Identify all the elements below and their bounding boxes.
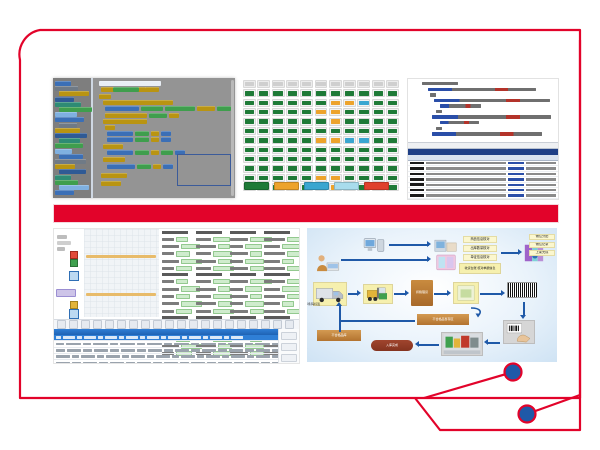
flow-node-quality-check[interactable] (453, 282, 479, 304)
status-cell[interactable] (315, 89, 328, 97)
form-field-value[interactable] (287, 266, 301, 271)
table-cell[interactable] (106, 355, 120, 358)
status-cell[interactable] (286, 108, 299, 116)
form-field-value[interactable] (282, 259, 294, 264)
canvas-block[interactable] (161, 131, 171, 136)
canvas-block[interactable] (161, 137, 171, 142)
canvas-block[interactable] (107, 131, 133, 136)
toolbar-button[interactable] (81, 320, 90, 329)
table-cell[interactable] (191, 362, 205, 364)
table-cell[interactable] (81, 355, 95, 358)
status-cell[interactable] (372, 108, 385, 116)
flow-node-check-list-2[interactable]: 出库数量核对 (463, 245, 497, 252)
status-cell[interactable] (300, 136, 313, 144)
status-cell[interactable] (315, 127, 328, 135)
status-cell[interactable] (329, 118, 342, 126)
form-field-value[interactable] (282, 244, 301, 249)
canvas-block[interactable] (105, 106, 139, 111)
status-cell[interactable] (272, 108, 285, 116)
status-cell[interactable] (243, 99, 256, 107)
status-cell[interactable] (386, 165, 399, 173)
toolbar-button[interactable] (93, 320, 102, 329)
status-cell[interactable] (272, 155, 285, 163)
table-cell[interactable] (231, 336, 243, 339)
form-field-value[interactable] (282, 301, 294, 306)
log-console[interactable] (408, 148, 558, 199)
status-cell[interactable] (272, 136, 285, 144)
table-cell[interactable] (197, 355, 204, 358)
canvas-block[interactable] (149, 113, 167, 118)
canvas-block[interactable] (107, 150, 133, 155)
form-field-value[interactable] (287, 294, 301, 299)
canvas-block[interactable] (151, 137, 159, 142)
table-cell[interactable] (63, 336, 75, 339)
flow-node-inbound-done[interactable]: 入库完成 (371, 340, 413, 351)
form-field-value[interactable] (176, 266, 192, 271)
status-cell[interactable] (243, 174, 256, 182)
canvas-block[interactable] (103, 100, 173, 105)
status-cell[interactable] (357, 146, 370, 154)
toolbar-button[interactable] (261, 320, 270, 329)
table-cell[interactable] (121, 349, 135, 352)
panel-blocks-editor[interactable] (53, 78, 235, 198)
table-cell[interactable] (182, 336, 187, 339)
table-cell[interactable] (175, 349, 189, 352)
blocks-scrollbar[interactable] (231, 80, 234, 196)
status-cell[interactable] (243, 89, 256, 97)
rail-node-amber[interactable] (70, 301, 78, 309)
status-cell[interactable] (329, 80, 342, 88)
form-field-value[interactable] (245, 244, 262, 249)
form-field-value[interactable] (282, 286, 301, 291)
toolbar-button[interactable] (285, 320, 294, 329)
table-cell[interactable] (56, 336, 61, 339)
status-cell[interactable] (315, 165, 328, 173)
status-cell[interactable] (329, 99, 342, 107)
status-cell[interactable] (300, 118, 313, 126)
status-cell[interactable] (272, 99, 285, 107)
canvas-block[interactable] (217, 106, 231, 111)
table-cell[interactable] (147, 336, 159, 339)
sheet-form-area[interactable] (84, 229, 299, 317)
form-field-value[interactable] (176, 251, 190, 256)
table-cell[interactable] (110, 362, 124, 364)
status-cell[interactable] (386, 146, 399, 154)
gantt-bar-2[interactable] (86, 293, 156, 296)
palette-block[interactable] (55, 190, 74, 195)
canvas-block[interactable] (101, 181, 121, 186)
table-cell[interactable] (84, 336, 96, 339)
table-cell[interactable] (207, 362, 216, 364)
table-cell[interactable] (97, 355, 104, 358)
flow-node-shelving-photo[interactable] (441, 332, 483, 356)
table-cell[interactable] (201, 343, 216, 346)
canvas-block[interactable] (105, 125, 115, 130)
status-cell[interactable] (357, 80, 370, 88)
table-cell[interactable] (164, 362, 178, 364)
canvas-block[interactable] (169, 113, 179, 118)
status-cell[interactable] (286, 127, 299, 135)
status-cell[interactable] (257, 80, 270, 88)
form-field-value[interactable] (245, 301, 264, 306)
table-cell[interactable] (174, 343, 189, 346)
status-cell[interactable] (257, 146, 270, 154)
table-cell[interactable] (140, 336, 145, 339)
canvas-block[interactable] (135, 150, 149, 155)
toolbar-button[interactable] (201, 320, 210, 329)
form-field-value[interactable] (213, 237, 230, 242)
status-cell[interactable] (329, 127, 342, 135)
status-cell[interactable] (272, 165, 285, 173)
status-cell[interactable] (329, 165, 342, 173)
status-cell[interactable] (357, 118, 370, 126)
form-row[interactable] (264, 309, 300, 314)
toolbar-button[interactable] (189, 320, 198, 329)
status-cell[interactable] (315, 136, 328, 144)
form-row[interactable] (264, 244, 300, 249)
status-cell[interactable] (272, 89, 285, 97)
side-action-button[interactable] (281, 354, 297, 362)
sheet-side-buttons[interactable] (278, 329, 299, 363)
status-cell[interactable] (386, 118, 399, 126)
form-field-value[interactable] (176, 237, 188, 242)
form-field-value[interactable] (250, 309, 264, 314)
table-cell[interactable] (210, 336, 222, 339)
canvas-block[interactable] (141, 106, 163, 111)
status-cell[interactable] (243, 80, 256, 88)
status-cell[interactable] (300, 80, 313, 88)
canvas-block[interactable] (103, 157, 125, 162)
status-cell[interactable] (386, 136, 399, 144)
status-cell[interactable] (315, 174, 328, 182)
status-cell[interactable] (286, 118, 299, 126)
status-cell[interactable] (343, 108, 356, 116)
toolbar-button[interactable] (117, 320, 126, 329)
status-cell[interactable] (329, 155, 342, 163)
table-cell[interactable] (56, 355, 70, 358)
table-cell[interactable] (83, 343, 91, 346)
form-field-value[interactable] (213, 294, 232, 299)
canvas-block[interactable] (113, 87, 139, 92)
table-cell[interactable] (126, 336, 138, 339)
table-cell[interactable] (72, 355, 79, 358)
flow-node-receiving-desk[interactable] (433, 238, 459, 272)
side-action-button[interactable] (281, 343, 297, 351)
table-cell[interactable] (189, 336, 201, 339)
panel-spreadsheet[interactable] (53, 228, 300, 364)
status-cell[interactable] (315, 80, 328, 88)
status-cell[interactable] (243, 108, 256, 116)
canvas-block[interactable] (107, 164, 135, 169)
table-cell[interactable] (94, 349, 108, 352)
canvas-block[interactable] (151, 131, 159, 136)
toolbar-button[interactable] (57, 320, 66, 329)
canvas-block[interactable] (165, 106, 195, 111)
table-cell[interactable] (67, 349, 81, 352)
rail-node-red[interactable] (70, 251, 78, 259)
table-cell[interactable] (77, 336, 82, 339)
gantt-bar-1[interactable] (86, 255, 156, 258)
status-cell[interactable] (257, 127, 270, 135)
status-cell[interactable] (343, 127, 356, 135)
table-cell[interactable] (83, 349, 92, 352)
form-field-value[interactable] (176, 294, 190, 299)
table-cell[interactable] (56, 343, 64, 346)
status-cell[interactable] (329, 136, 342, 144)
status-cell[interactable] (343, 89, 356, 97)
form-field-value[interactable] (250, 266, 264, 271)
table-cell[interactable] (202, 349, 216, 352)
form-row[interactable] (264, 251, 300, 256)
flow-node-check-list-1[interactable]: 商品信息核对 (463, 236, 497, 243)
status-cell[interactable] (343, 174, 356, 182)
flow-node-order-system[interactable] (361, 236, 387, 254)
canvas-block[interactable] (163, 164, 173, 169)
form-field-value[interactable] (287, 279, 301, 284)
canvas-block[interactable] (103, 144, 123, 149)
status-cell[interactable] (329, 174, 342, 182)
status-cell[interactable] (343, 146, 356, 154)
table-cell[interactable] (206, 355, 220, 358)
table-cell[interactable] (222, 355, 229, 358)
table-cell[interactable] (137, 343, 145, 346)
table-cell[interactable] (93, 343, 108, 346)
form-field-value[interactable] (218, 244, 230, 249)
table-cell[interactable] (137, 362, 151, 364)
status-cell[interactable] (357, 108, 370, 116)
status-cell[interactable] (300, 165, 313, 173)
flow-node-check-list-3[interactable]: 单证信息核对 (463, 254, 497, 261)
status-cell[interactable] (372, 165, 385, 173)
table-cell[interactable] (256, 355, 270, 358)
form-row[interactable] (264, 266, 300, 271)
table-cell[interactable] (231, 355, 245, 358)
table-body[interactable] (54, 335, 299, 364)
table-cell[interactable] (172, 355, 179, 358)
table-cell[interactable] (161, 336, 166, 339)
table-cell[interactable] (137, 349, 146, 352)
status-cell[interactable] (329, 108, 342, 116)
canvas-block[interactable] (105, 113, 147, 118)
status-cell[interactable] (300, 146, 313, 154)
table-cell[interactable] (255, 343, 270, 346)
status-cell[interactable] (243, 146, 256, 154)
toolbar-button[interactable] (165, 320, 174, 329)
status-cell[interactable] (257, 89, 270, 97)
status-cell[interactable] (372, 174, 385, 182)
status-cell[interactable] (286, 136, 299, 144)
table-cell[interactable] (148, 349, 162, 352)
toolbar-button[interactable] (69, 320, 78, 329)
sheet-data-table[interactable] (54, 329, 299, 363)
status-cell[interactable] (272, 146, 285, 154)
form-field-value[interactable] (218, 286, 230, 291)
panel-flowchart[interactable]: 供应商 订单系统 商品信 (307, 228, 557, 362)
table-cell[interactable] (164, 343, 172, 346)
table-cell[interactable] (256, 349, 270, 352)
blocks-palette[interactable] (53, 78, 93, 198)
toolbar-button[interactable] (177, 320, 186, 329)
form-row[interactable] (264, 301, 300, 306)
status-cell[interactable] (243, 165, 256, 173)
form-row[interactable] (264, 286, 300, 291)
status-cell[interactable] (286, 165, 299, 173)
status-cell[interactable] (386, 155, 399, 163)
status-cell[interactable] (386, 80, 399, 88)
toolbar-button[interactable] (225, 320, 234, 329)
status-cell[interactable] (243, 118, 256, 126)
status-cell[interactable] (343, 165, 356, 173)
form-row[interactable] (264, 237, 300, 242)
status-cell[interactable] (343, 80, 356, 88)
palette-block[interactable] (55, 175, 71, 180)
status-cell[interactable] (357, 155, 370, 163)
canvas-block[interactable] (107, 137, 133, 142)
toolbar-button[interactable] (237, 320, 246, 329)
canvas-block[interactable] (151, 150, 159, 155)
canvas-block[interactable] (99, 94, 111, 99)
block-selection-box[interactable] (177, 154, 231, 186)
status-cell[interactable] (300, 108, 313, 116)
status-cell[interactable] (272, 127, 285, 135)
palette-block[interactable] (55, 149, 72, 154)
toolbar-button[interactable] (153, 320, 162, 329)
table-cell[interactable] (119, 336, 124, 339)
status-cell[interactable] (372, 80, 385, 88)
status-cell[interactable] (300, 99, 313, 107)
status-cell[interactable] (315, 99, 328, 107)
status-cell[interactable] (272, 118, 285, 126)
table-cell[interactable] (168, 336, 180, 339)
status-cell[interactable] (343, 118, 356, 126)
table-cell[interactable] (120, 343, 135, 346)
status-cell[interactable] (329, 89, 342, 97)
status-cell[interactable] (257, 165, 270, 173)
flow-node-barcode-print[interactable] (507, 282, 537, 300)
status-cell[interactable] (386, 108, 399, 116)
table-cell[interactable] (153, 362, 162, 364)
palette-block[interactable] (55, 143, 83, 148)
flow-node-reject-zone[interactable]: 不合格品暂存区 (417, 314, 469, 325)
table-cell[interactable] (131, 355, 145, 358)
side-action-button[interactable] (281, 332, 297, 340)
status-cell[interactable] (372, 99, 385, 107)
form-field-value[interactable] (287, 251, 301, 256)
table-cell[interactable] (110, 343, 118, 346)
rail-node-blue-2[interactable] (69, 309, 79, 319)
status-cell[interactable] (386, 174, 399, 182)
status-cell[interactable] (315, 108, 328, 116)
canvas-block[interactable] (101, 173, 127, 178)
status-cell[interactable] (372, 155, 385, 163)
table-cell[interactable] (110, 349, 119, 352)
status-cell[interactable] (243, 136, 256, 144)
form-row[interactable] (264, 259, 300, 264)
status-cell[interactable] (286, 174, 299, 182)
canvas-block[interactable] (103, 119, 147, 124)
table-cell[interactable] (147, 355, 154, 358)
status-cell[interactable] (357, 127, 370, 135)
form-field-value[interactable] (213, 251, 232, 256)
table-cell[interactable] (156, 355, 170, 358)
form-field-value[interactable] (176, 279, 188, 284)
status-cell[interactable] (315, 118, 328, 126)
status-cell[interactable] (300, 89, 313, 97)
table-cell[interactable] (180, 362, 189, 364)
status-cell[interactable] (372, 89, 385, 97)
table-cell[interactable] (247, 355, 254, 358)
status-cell[interactable] (286, 89, 299, 97)
status-cell[interactable] (300, 127, 313, 135)
table-cell[interactable] (147, 343, 162, 346)
canvas-block[interactable] (145, 87, 159, 92)
table-cell[interactable] (234, 362, 243, 364)
canvas-block[interactable] (153, 164, 161, 169)
table-cell[interactable] (229, 349, 243, 352)
palette-block[interactable] (59, 169, 86, 174)
status-cell[interactable] (386, 127, 399, 135)
status-cell[interactable] (257, 136, 270, 144)
status-cell[interactable] (343, 155, 356, 163)
canvas-block[interactable] (135, 137, 149, 142)
table-cell[interactable] (181, 355, 195, 358)
table-cell[interactable] (83, 362, 97, 364)
status-grid[interactable] (243, 80, 399, 178)
table-cell[interactable] (218, 349, 227, 352)
status-cell[interactable] (300, 155, 313, 163)
toolbar-button[interactable] (249, 320, 258, 329)
flow-node-storage-label-1[interactable]: 储位分配 (529, 234, 555, 240)
status-cell[interactable] (257, 99, 270, 107)
status-cell[interactable] (286, 146, 299, 154)
flow-node-unpack[interactable]: 拆箱理货 (411, 280, 433, 306)
status-cell[interactable] (372, 136, 385, 144)
status-cell[interactable] (315, 155, 328, 163)
status-cell[interactable] (357, 165, 370, 173)
palette-block[interactable] (55, 117, 84, 122)
table-cell[interactable] (105, 336, 117, 339)
table-cell[interactable] (56, 349, 65, 352)
status-cell[interactable] (343, 99, 356, 107)
form-row[interactable] (264, 294, 300, 299)
palette-block[interactable] (55, 97, 74, 102)
toolbar-button[interactable] (141, 320, 150, 329)
table-cell[interactable] (203, 336, 208, 339)
status-cell[interactable] (343, 136, 356, 144)
table-cell[interactable] (164, 349, 173, 352)
rail-node-blue[interactable] (69, 271, 79, 281)
canvas-block[interactable] (137, 164, 151, 169)
table-cell[interactable] (98, 336, 103, 339)
form-row[interactable] (264, 279, 300, 284)
rail-node-green[interactable] (70, 259, 78, 267)
flow-node-storage-label-3[interactable]: 上架完成 (529, 250, 555, 256)
form-field-value[interactable] (213, 279, 230, 284)
status-cell[interactable] (357, 174, 370, 182)
status-cell[interactable] (386, 89, 399, 97)
status-cell[interactable] (357, 89, 370, 97)
flow-node-scan-entry[interactable] (503, 320, 535, 344)
status-cell[interactable] (286, 99, 299, 107)
table-cell[interactable] (191, 343, 199, 346)
status-cell[interactable] (286, 155, 299, 163)
flow-node-inspection[interactable] (363, 284, 393, 304)
status-cell[interactable] (243, 127, 256, 135)
table-cell[interactable] (56, 362, 70, 364)
status-cell[interactable] (315, 146, 328, 154)
panel-code-console[interactable] (407, 78, 559, 200)
flow-node-storage-label-2[interactable]: 储位记录 (529, 242, 555, 248)
